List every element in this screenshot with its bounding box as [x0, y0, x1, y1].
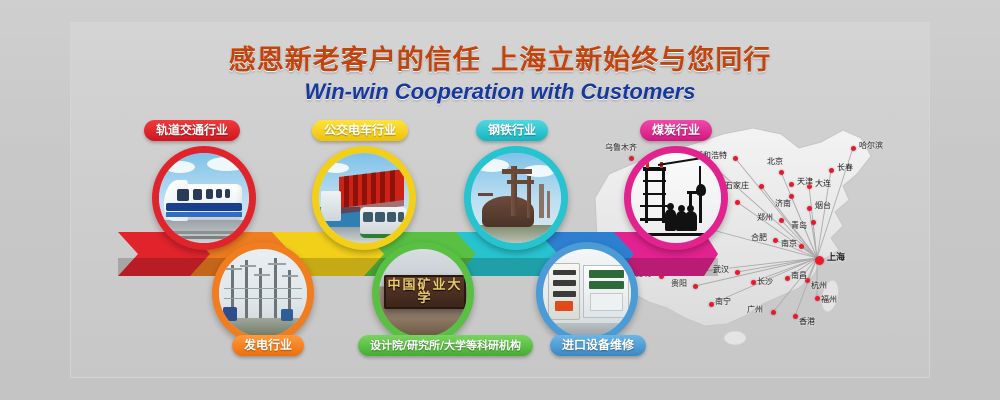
scene-switchgear-cabinets [543, 249, 631, 337]
scene-high-speed-train [159, 153, 249, 243]
map-label-urumqi: 乌鲁木齐 [605, 144, 637, 152]
map-dot-fuzhou [815, 296, 820, 301]
map-label-nanning: 南宁 [715, 298, 731, 306]
industry-photo-rail [159, 153, 249, 243]
map-dot-shijiazhuang [759, 184, 764, 189]
map-label-yantai: 烟台 [815, 202, 831, 210]
map-label-nanchang: 南昌 [791, 272, 807, 280]
scene-coal-mine-derrick [631, 153, 721, 243]
scene-power-substation [219, 249, 307, 337]
map-label-beijing: 北京 [767, 158, 783, 166]
map-dot-hefei [773, 238, 778, 243]
map-dot-wuhan [735, 270, 740, 275]
industry-circle-rail[interactable] [152, 146, 256, 250]
headline-block: 感恩新老客户的信任 上海立新始终与您同行 Win-win Cooperation… [0, 46, 1000, 104]
industry-circle-maintenance[interactable] [536, 242, 638, 344]
industry-circle-steel[interactable] [464, 146, 568, 250]
map-dot-changsha [751, 280, 756, 285]
scene-steel-blast-furnace [471, 153, 561, 243]
headline-chinese: 感恩新老客户的信任 上海立新始终与您同行 [0, 46, 1000, 76]
map-dot-tianjin [789, 182, 794, 187]
map-label-zhengzhou: 郑州 [757, 214, 773, 222]
headline-english: Win-win Cooperation with Customers [0, 80, 1000, 104]
industry-photo-research: 中国矿业大学 [379, 249, 467, 337]
map-label-shijiazhuang: 石家庄 [725, 182, 749, 190]
industry-pill-bus[interactable]: 公交电车行业 [312, 120, 408, 141]
industry-photo-steel [471, 153, 561, 243]
industry-pill-maintenance[interactable]: 进口设备维修 [550, 335, 646, 356]
map-dot-beijing [779, 170, 784, 175]
map-label-hongkong: 香港 [799, 318, 815, 326]
map-dot-harbin [851, 146, 856, 151]
map-label-hefei: 合肥 [751, 234, 767, 242]
map-label-qingdao: 青岛 [791, 222, 807, 230]
industry-photo-coal [631, 153, 721, 243]
map-label-harbin: 哈尔滨 [859, 142, 883, 150]
banner-stage: 哈尔滨 长春 大连 北京 天津 呼和浩特 银川 乌鲁木齐 石家庄 太原 济南 烟… [0, 0, 1000, 400]
map-dot-qingdao [811, 220, 816, 225]
map-dot-guangzhou [771, 310, 776, 315]
industry-photo-power [219, 249, 307, 337]
map-dot-taiyuan [735, 200, 740, 205]
industry-circle-power[interactable] [212, 242, 314, 344]
switchgear-cabinet [583, 265, 629, 318]
map-dot-zhengzhou [779, 218, 784, 223]
map-dot-nanning [709, 302, 714, 307]
map-dot-nanchang [785, 276, 790, 281]
map-label-guangzhou: 广州 [747, 306, 763, 314]
map-label-guiyang: 贵阳 [671, 280, 687, 288]
industry-pill-research[interactable]: 设计院/研究所/大学等科研机构 [358, 335, 533, 356]
map-label-jinan: 济南 [775, 200, 791, 208]
industry-photo-maintenance [543, 249, 631, 337]
scene-expo-pavilion-bus [319, 153, 409, 243]
map-label-dalian: 大连 [815, 180, 831, 188]
map-label-hangzhou: 杭州 [811, 282, 827, 290]
map-label-nanjing: 南京 [781, 240, 797, 248]
industry-circle-coal[interactable] [624, 146, 728, 250]
industry-pill-rail[interactable]: 轨道交通行业 [144, 120, 240, 141]
map-dot-yantai [807, 206, 812, 211]
circuit-breaker [548, 263, 580, 320]
map-label-fuzhou: 福州 [821, 296, 837, 304]
map-dot-guiyang [693, 284, 698, 289]
industry-circle-bus[interactable] [312, 146, 416, 250]
industry-pill-power[interactable]: 发电行业 [232, 335, 304, 356]
map-dot-changchun [829, 168, 834, 173]
map-dot-shanghai [815, 256, 824, 265]
map-label-tianjin: 天津 [797, 178, 813, 186]
map-dot-hohhot [733, 156, 738, 161]
industry-photo-bus [319, 153, 409, 243]
industry-pill-coal[interactable]: 煤炭行业 [640, 120, 712, 141]
map-dot-hongkong [793, 314, 798, 319]
map-label-changchun: 长春 [837, 164, 853, 172]
map-label-shanghai: 上海 [827, 254, 845, 262]
industry-circle-research[interactable]: 中国矿业大学 [372, 242, 474, 344]
map-dot-nanjing [799, 244, 804, 249]
university-plaque: 中国矿业大学 [384, 275, 465, 309]
scene-university-sign: 中国矿业大学 [379, 249, 467, 337]
map-label-changsha: 长沙 [757, 278, 773, 286]
industry-pill-steel[interactable]: 钢铁行业 [476, 120, 548, 141]
